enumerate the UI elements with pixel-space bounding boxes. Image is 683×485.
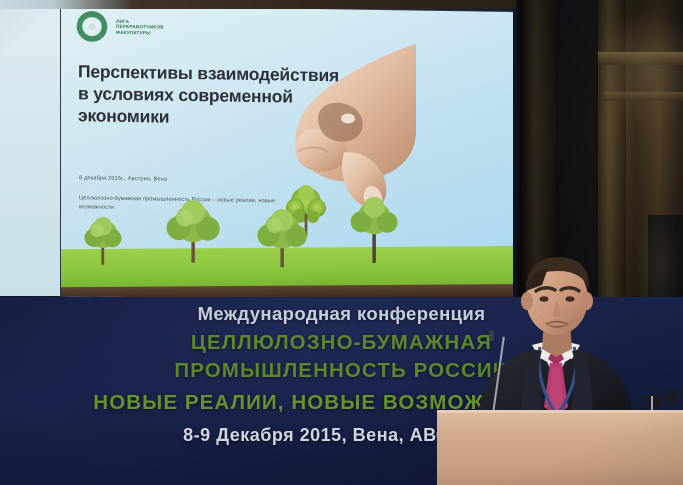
wall-light-glow	[590, 10, 683, 130]
presentation-slide: ЛИГА ПЕРЕРАБОТЧИКОВ МАКУЛАТУРЫ	[61, 5, 513, 303]
microphone-head-icon	[489, 330, 494, 341]
tree-1	[81, 213, 125, 266]
speaker-at-podium	[470, 255, 660, 435]
slide-logo: ЛИГА ПЕРЕРАБОТЧИКОВ МАКУЛАТУРЫ	[75, 9, 164, 44]
logo-line-3: МАКУЛАТУРЫ	[116, 29, 164, 35]
slide-date-line: 8 декабря 2015г., Австрия, Вена	[79, 175, 167, 182]
slide-title: Перспективы взаимодействия в условиях со…	[78, 60, 348, 130]
tree-4	[348, 195, 402, 266]
equipment-blob-2	[664, 390, 678, 404]
lectern	[437, 412, 683, 485]
equipment-blob-1	[645, 394, 661, 410]
conference-photo: ЛИГА ПЕРЕРАБОТЧИКОВ МАКУЛАТУРЫ	[0, 0, 683, 485]
projection-screen: ЛИГА ПЕРЕРАБОТЧИКОВ МАКУЛАТУРЫ	[0, 0, 516, 300]
recycling-arrows-icon	[75, 9, 109, 44]
screen-left-margin	[0, 0, 60, 296]
tree-3	[254, 204, 312, 269]
slide-logo-text: ЛИГА ПЕРЕРАБОТЧИКОВ МАКУЛАТУРЫ	[116, 19, 164, 35]
tree-2	[164, 196, 224, 265]
screen-top-frame	[0, 0, 516, 9]
